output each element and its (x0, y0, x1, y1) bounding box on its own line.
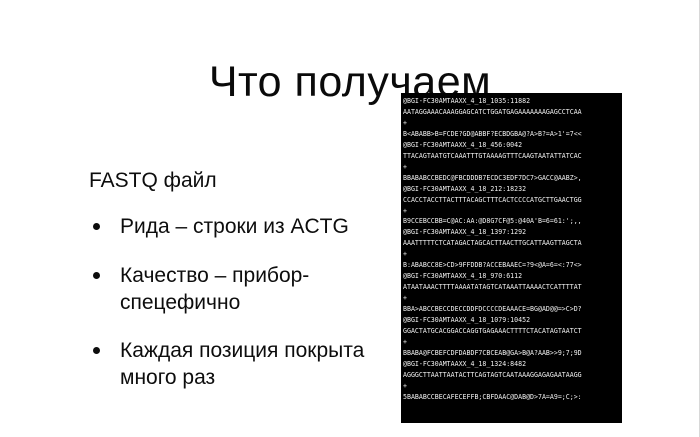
slide-body-column: FASTQ файл Рида – строки из ACTG Качеств… (89, 168, 389, 392)
fastq-line: AATAGGAAACAAAGGAGCATCTGGATGAGAAAAAAAGAGC… (403, 107, 622, 118)
fastq-line: @BGI-FC30AMTAAXX_4_18_1397:1292 (403, 227, 622, 238)
fastq-line: + (403, 381, 622, 392)
list-item: Качество – прибор-спецефично (89, 263, 389, 316)
lead-text: FASTQ файл (89, 168, 389, 194)
fastq-line: BBABABCCBEDC@FBCDDDB7ECDC3EDF7DC7>GACC@A… (403, 173, 622, 184)
fastq-line: ATAATAAACTTTTAAAATATAGTCATAAATTAAAACTCAT… (403, 282, 622, 293)
list-item-label: Каждая позиция покрыта много раз (120, 339, 364, 389)
fastq-line: BBABA@FCBEFCDFDABDF7CBCEAB@GA>B@A?AAB>>9… (403, 348, 622, 359)
fastq-line: B<ABABB>B=FCDE?GD@ABBF?ECBDGBA@?A>B?=A>1… (403, 129, 622, 140)
fastq-line: B:ABABCC8E>CD>9FFDDB?ACCEBAAEC=?9<@A=6=<… (403, 260, 622, 271)
fastq-line: @BGI-FC30AMTAAXX_4_18_970:6112 (403, 271, 622, 282)
fastq-line: @BGI-FC30AMTAAXX_4_18_1079:10452 (403, 315, 622, 326)
fastq-line: + (403, 118, 622, 129)
list-item-label: Рида – строки из ACTG (120, 215, 349, 238)
fastq-line: @BGI-FC30AMTAAXX_4_18_456:0042 (403, 140, 622, 151)
fastq-line: TTACAGTAATGTCAAATTTGTAAAAGTTTCAAGTAATATT… (403, 151, 622, 162)
fastq-line: @BGI-FC30AMTAAXX_4_18_1035:11882 (403, 96, 622, 107)
fastq-line: CCACCTACCTTACTTTACAGCTTTCACTCCCCATGCTTGA… (403, 195, 622, 206)
list-item: Каждая позиция покрыта много раз (89, 338, 389, 391)
fastq-line: @BGI-FC30AMTAAXX_4_18_212:18232 (403, 184, 622, 195)
fastq-line: B9CCEBCCBB=C@AC:AA:@D8G7CF@5:@40A'B=6=61… (403, 216, 622, 227)
fastq-line: @BGI-FC30AMTAAXX_4_18_1324:8482 (403, 359, 622, 370)
bullet-dot-icon (93, 223, 100, 230)
fastq-line: AAATTTTTCTCATAGACTAGCACTTAACTTGCATTAAGTT… (403, 238, 622, 249)
list-item-label: Качество – прибор-спецефично (120, 264, 309, 314)
fastq-file-preview: @BGI-FC30AMTAAXX_4_18_1035:11882 AATAGGA… (401, 93, 622, 423)
slide-canvas: Что получаем FASTQ файл Рида – строки из… (0, 0, 700, 437)
fastq-line: + (403, 206, 622, 217)
list-item: Рида – строки из ACTG (89, 214, 389, 241)
fastq-line: + (403, 162, 622, 173)
fastq-line: + (403, 293, 622, 304)
fastq-line: + (403, 337, 622, 348)
fastq-line: GGACTATGCACGGACCAGGTGAGAAACTTTTCTACATAGT… (403, 326, 622, 337)
fastq-line: 5BABABCCBECAFECEFFB;CBFDAAC@DAB@D>7A=A9=… (403, 392, 622, 403)
bullet-dot-icon (93, 347, 100, 354)
bullet-dot-icon (93, 272, 100, 279)
fastq-line: BBA>ABCCBECCDECCDDFDCCCCDEAAACE=BG@AD@@=… (403, 304, 622, 315)
fastq-line: + (403, 249, 622, 260)
fastq-line: AGGGCTTAATTAATACTTCAGTAGTCAATAAAGGAGAGAA… (403, 370, 622, 381)
bullet-list: Рида – строки из ACTG Качество – прибор-… (89, 214, 389, 391)
